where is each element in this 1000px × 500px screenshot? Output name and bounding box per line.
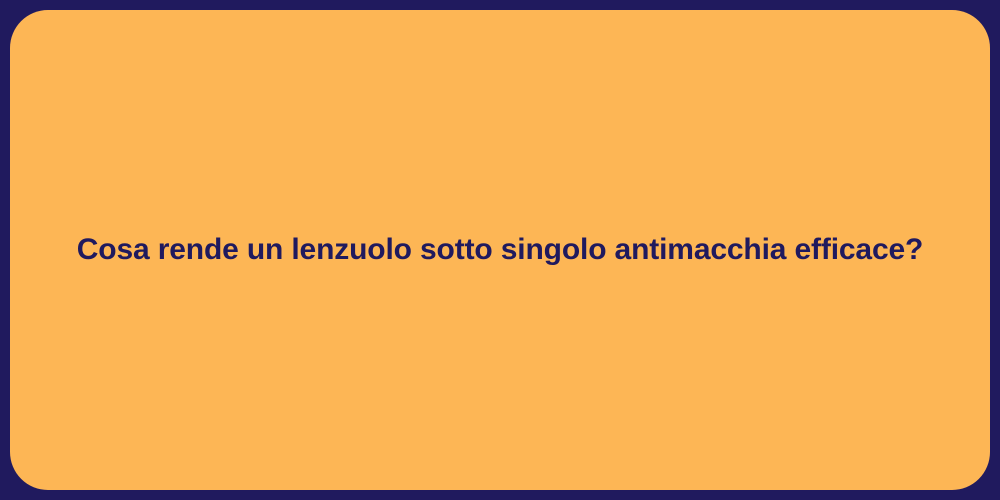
outer-frame: Cosa rende un lenzuolo sotto singolo ant… — [0, 0, 1000, 500]
question-card: Cosa rende un lenzuolo sotto singolo ant… — [10, 10, 990, 490]
question-headline: Cosa rende un lenzuolo sotto singolo ant… — [49, 231, 951, 269]
